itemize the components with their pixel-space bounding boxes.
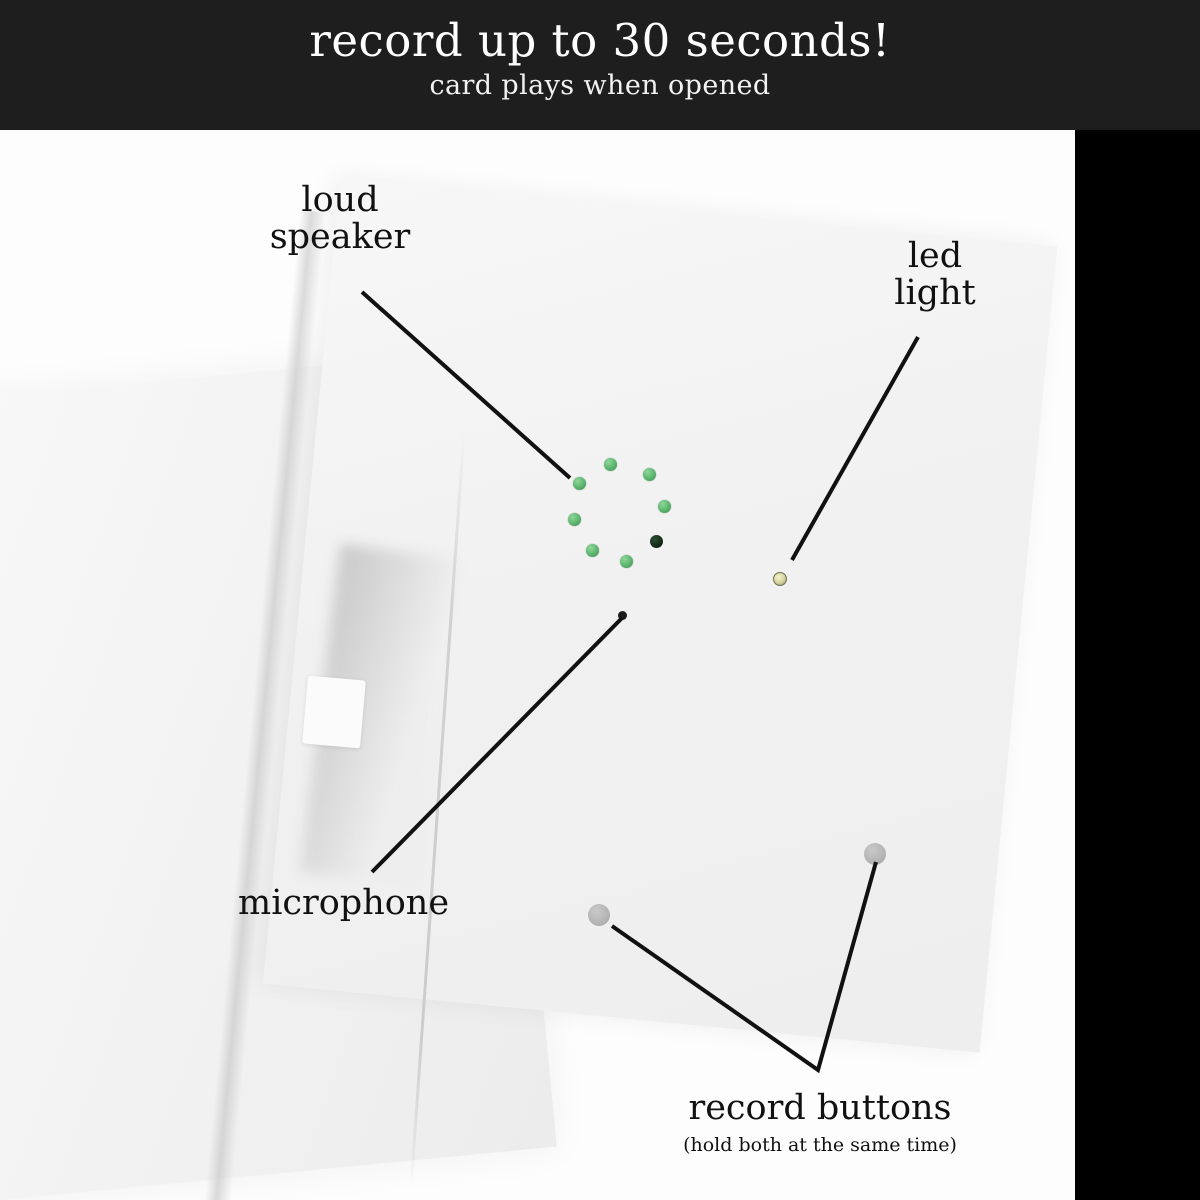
speaker-hole-icon [620,555,633,568]
speaker-hole-icon [573,477,586,490]
card-tab [302,676,366,749]
label-record-buttons: record buttons [650,1090,990,1127]
speaker-hole-icon [586,544,599,557]
speaker-hole-icon [643,468,656,481]
banner-title: record up to 30 seconds! [0,14,1200,68]
speaker-hole-icon [604,458,617,471]
speaker-hole-icon [568,513,581,526]
label-record-buttons-note: (hold both at the same time) [650,1134,990,1156]
greeting-card-product-image: record up to 30 seconds! card plays when… [0,0,1200,1200]
label-led-light: led light [855,238,1015,312]
microphone-icon [618,611,627,620]
speaker-hole-icon [650,535,663,548]
speaker-hole-icon [658,500,671,513]
label-loud-speaker: loud speaker [230,182,450,256]
record-button-right-icon [864,843,886,865]
led-light-icon [773,572,787,586]
right-black-bar [1075,130,1200,1200]
label-microphone: microphone [238,885,498,922]
record-button-left-icon [588,904,610,926]
banner-subtitle: card plays when opened [0,68,1200,104]
banner: record up to 30 seconds! card plays when… [0,0,1200,130]
